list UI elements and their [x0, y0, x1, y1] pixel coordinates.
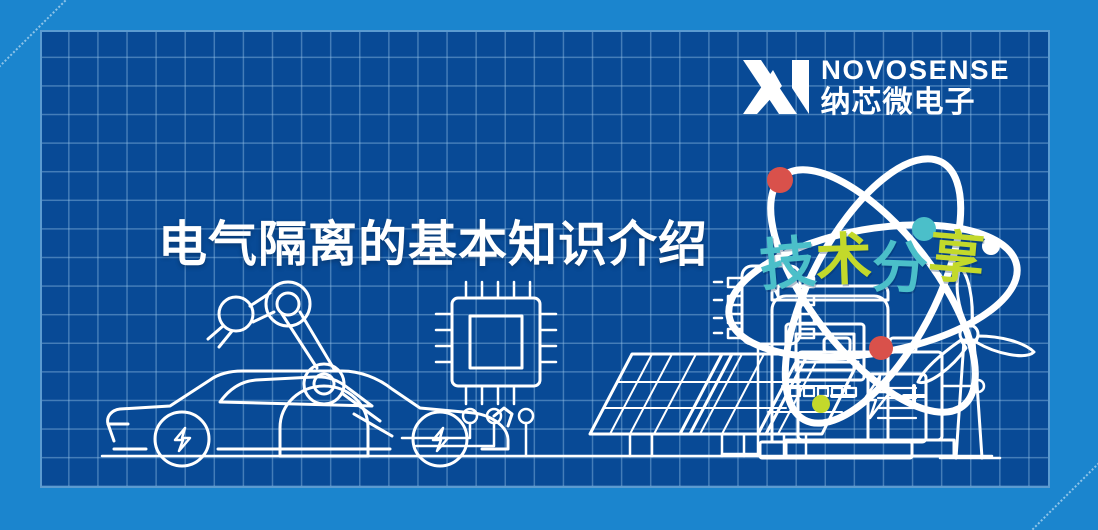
- electron-red-bottom: [869, 336, 893, 360]
- badge-char-2: 术: [815, 232, 873, 290]
- badge-char-1: 技: [758, 235, 819, 296]
- page-title: 电气隔离的基本知识介绍: [158, 220, 708, 269]
- logo-chinese-text: 纳芯微电子: [821, 88, 976, 118]
- electron-red-top: [767, 167, 793, 193]
- banner-root: 技术分享 电气隔离的基本知识介绍 NOVOSENSE 纳芯微电子: [0, 0, 1098, 530]
- electric-car-icon: [108, 371, 512, 466]
- novosense-n-mark-icon: [743, 56, 811, 118]
- badge-wordmark: 技术分享: [760, 237, 984, 293]
- robot-arm-icon: [208, 282, 392, 456]
- badge-char-4: 享: [926, 229, 987, 290]
- logo-english-text: NOVOSENSE: [821, 57, 1010, 84]
- blueprint-panel: 技术分享 电气隔离的基本知识介绍 NOVOSENSE 纳芯微电子: [40, 30, 1050, 488]
- electron-lime: [812, 395, 830, 413]
- badge-char-3: 分: [871, 240, 929, 298]
- microchip-icon: [402, 282, 556, 456]
- brand-logo: NOVOSENSE 纳芯微电子: [743, 56, 1006, 118]
- logo-wordmark: NOVOSENSE 纳芯微电子: [821, 57, 1006, 118]
